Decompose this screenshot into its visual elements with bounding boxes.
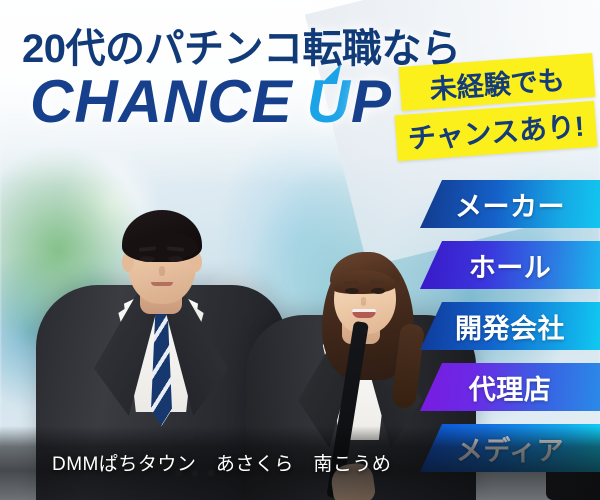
category-agency[interactable]: 代理店 xyxy=(420,363,600,411)
category-hall[interactable]: ホール xyxy=(420,241,600,289)
category-list: メーカー ホール 開発会社 代理店 メディア xyxy=(0,0,600,500)
advertisement-banner[interactable]: 20代のパチンコ転職なら CHANCEUP 未経験でも チャンスあり! メーカー… xyxy=(0,0,600,500)
category-development-company[interactable]: 開発会社 xyxy=(420,302,600,350)
category-maker[interactable]: メーカー xyxy=(420,180,600,228)
caption-credits: DMMぱちタウン あさくら 南こうめ xyxy=(52,449,391,476)
